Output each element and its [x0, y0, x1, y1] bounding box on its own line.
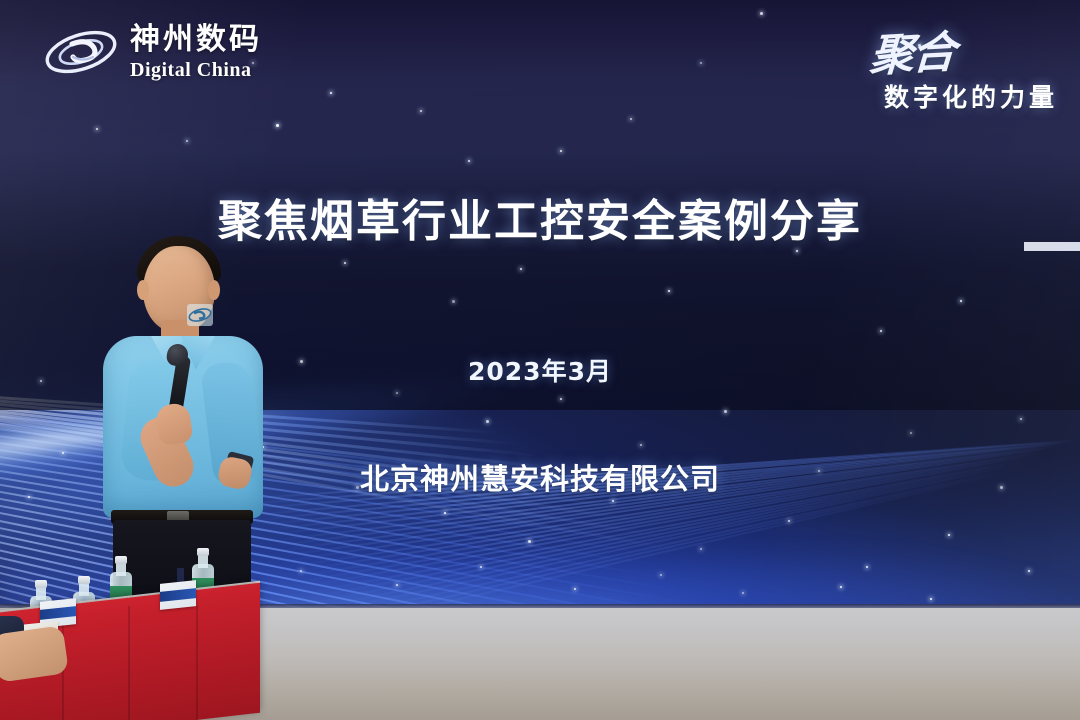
bottle-neck — [36, 586, 46, 600]
bottle-neck — [198, 554, 208, 568]
bottle-neck — [79, 582, 89, 596]
bottle-neck — [116, 562, 126, 576]
cloth-fold — [128, 606, 130, 720]
brand-logo: 神州数码 Digital China — [42, 20, 262, 84]
bottle-cap — [35, 580, 47, 588]
slogan-subtitle: 数字化的力量 — [870, 78, 1058, 114]
speaker-ear-right — [208, 280, 220, 300]
bottle-cap — [78, 576, 90, 584]
cloth-fold — [196, 606, 198, 720]
speaker-ear-left — [137, 280, 149, 300]
name-card-band — [40, 606, 76, 620]
shirt-logo-patch-icon — [187, 304, 213, 326]
brand-name-cn: 神州数码 — [130, 25, 262, 55]
bottle-cap — [197, 548, 209, 556]
digital-china-swirl-icon — [42, 20, 120, 84]
slogan-calligraphy: 聚合 — [868, 16, 956, 84]
stage-photo: 神州数码 Digital China 聚合 数字化的力量 聚焦烟草行业工控安全案… — [0, 0, 1080, 720]
brand-name-en: Digital China — [130, 60, 262, 80]
name-card-band — [160, 588, 196, 602]
bottle-cap — [115, 556, 127, 564]
event-slogan: 聚合 数字化的力量 — [870, 18, 1058, 114]
name-card — [160, 580, 196, 610]
